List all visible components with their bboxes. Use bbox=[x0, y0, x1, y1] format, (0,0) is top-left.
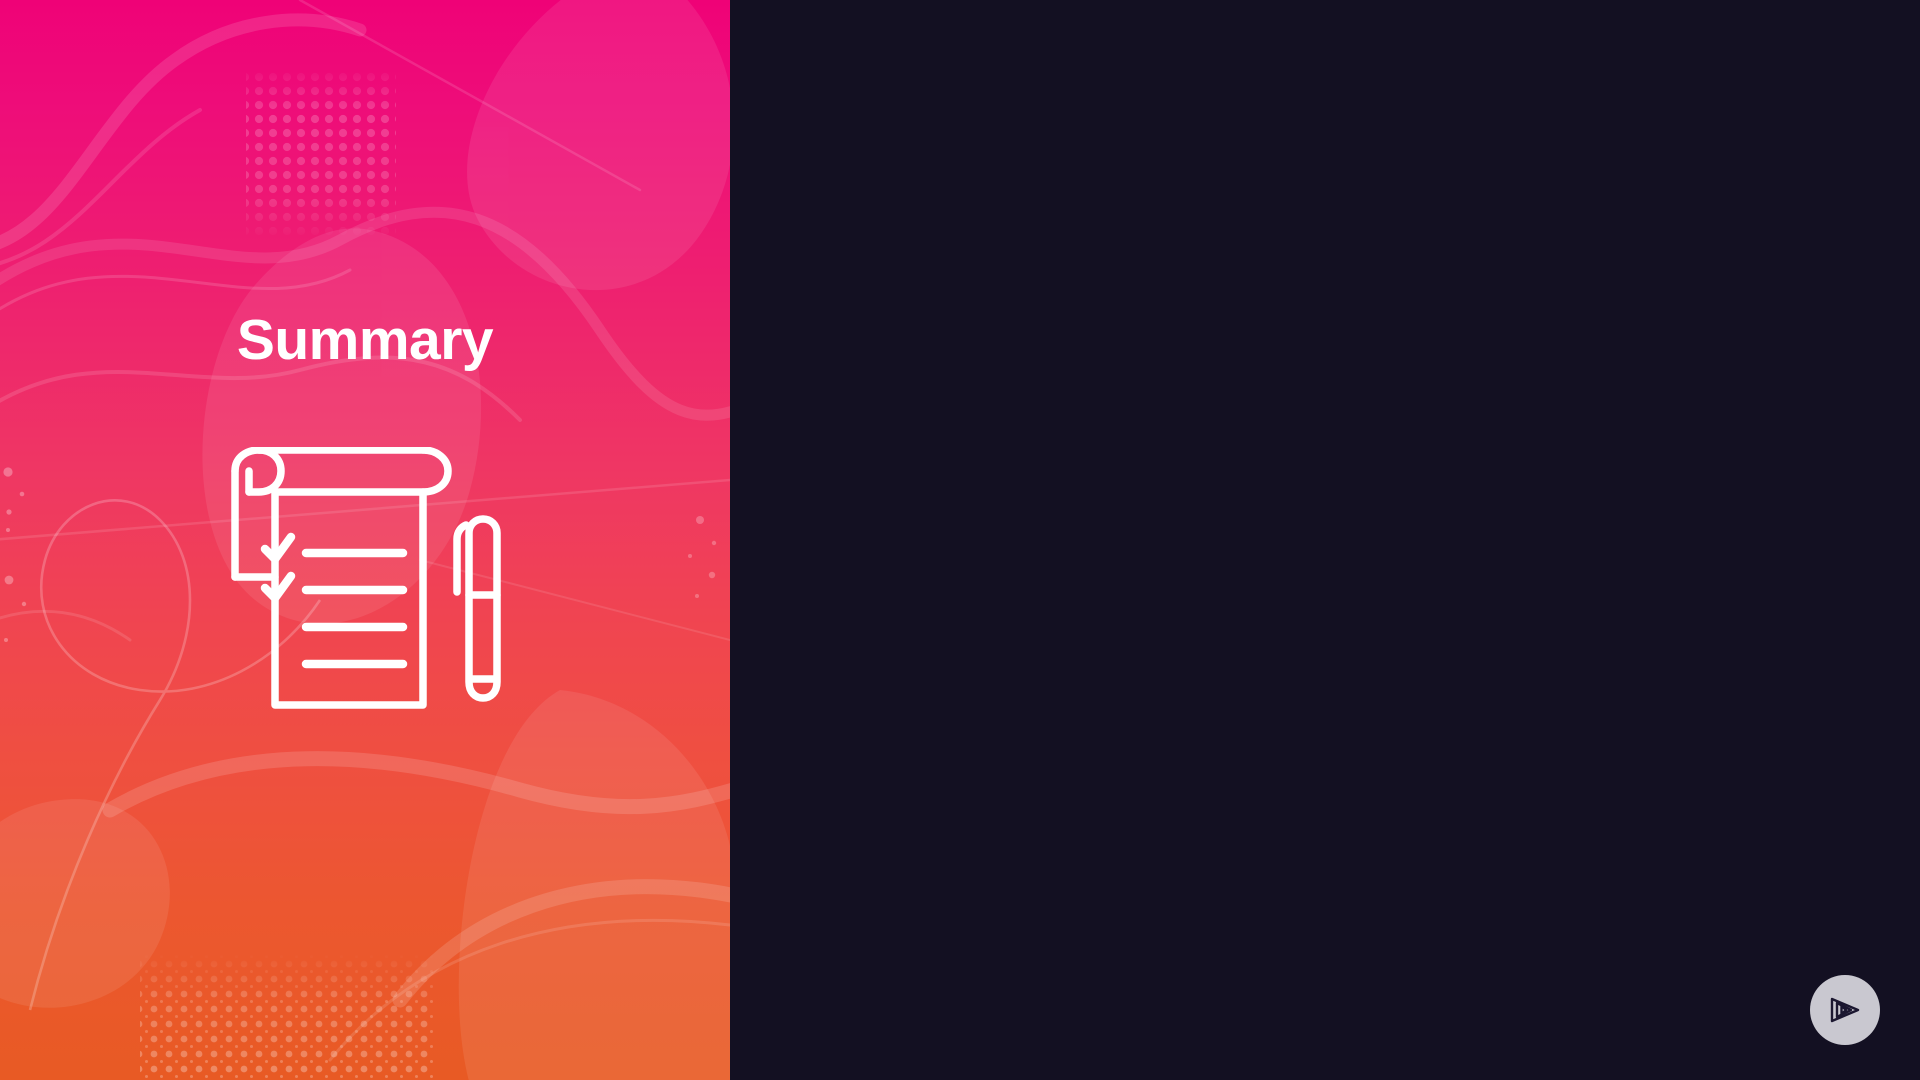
slide-canvas: Summary bbox=[0, 0, 1920, 1080]
page-title: Summary bbox=[0, 312, 730, 369]
play-button[interactable] bbox=[1810, 975, 1880, 1045]
checklist-scroll-with-pen-illustration bbox=[207, 447, 517, 727]
nested-play-triangle-icon bbox=[1828, 995, 1862, 1025]
slide-gradient-panel: Summary bbox=[0, 0, 730, 1080]
pen-icon bbox=[457, 519, 497, 698]
